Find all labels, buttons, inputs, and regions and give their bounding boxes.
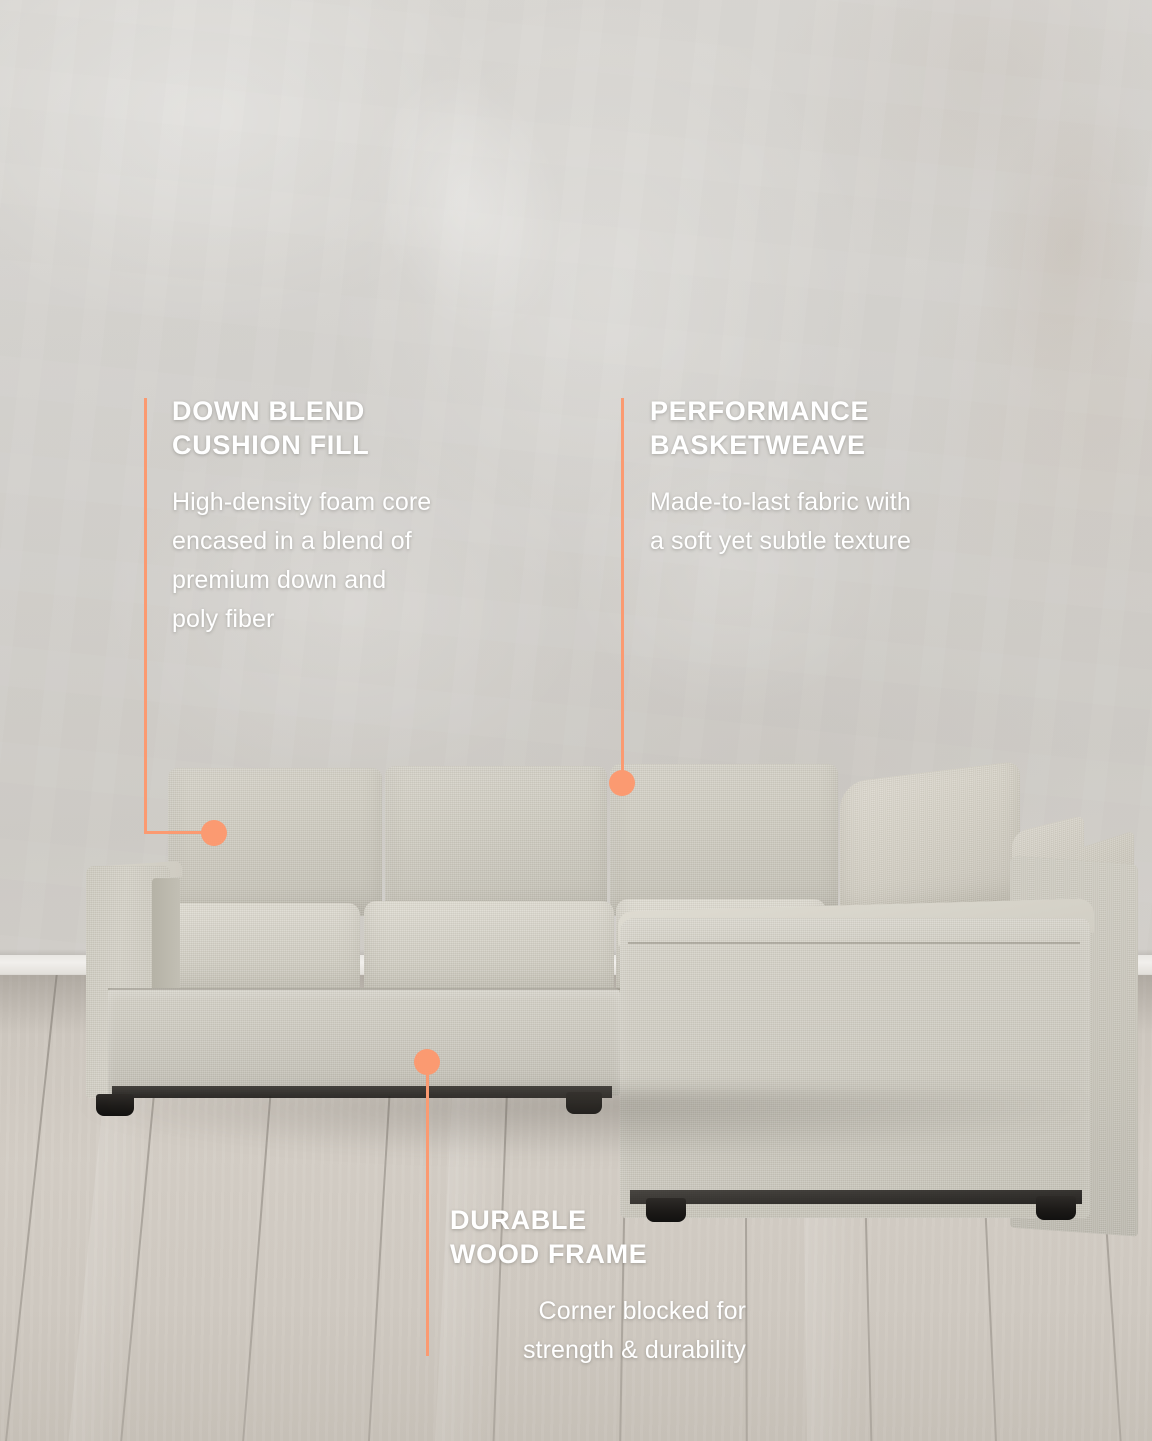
fabric-weave-texture (610, 764, 838, 916)
callout-1-anchor-dot (201, 820, 227, 846)
callout-2-anchor-dot (609, 770, 635, 796)
back-cushion-corner (840, 761, 1020, 923)
callout-2-leader-line-vertical (621, 398, 624, 783)
product-feature-graphic: DOWN BLEND CUSHION FILL High-density foa… (0, 0, 1152, 1441)
fabric-weave-texture (840, 761, 1020, 923)
fabric-weave-texture (108, 988, 620, 1096)
base-top-seam (108, 988, 620, 990)
callout-1-heading: DOWN BLEND CUSHION FILL (172, 394, 369, 462)
left-arm-inner-panel (152, 878, 180, 998)
seat-cushion-middle (364, 901, 614, 999)
callout-1-body: High-density foam core encased in a blen… (172, 483, 431, 639)
callout-2-heading: PERFORMANCE BASKETWEAVE (650, 394, 869, 462)
fabric-weave-texture (385, 766, 607, 916)
sofa-leg-corner-right (1036, 1196, 1076, 1220)
callout-3-heading: DURABLE WOOD FRAME (450, 1203, 647, 1271)
fabric-weave-texture (364, 901, 614, 999)
sofa-leg-corner-left (646, 1198, 686, 1222)
back-cushion-right (610, 764, 838, 916)
sofa-base-left (108, 988, 620, 1096)
callout-2-body: Made-to-last fabric with a soft yet subt… (650, 483, 911, 561)
corner-body-seam (628, 942, 1080, 944)
sofa-cast-shadow (70, 1090, 1100, 1160)
callout-3-body: Corner blocked for strength & durability (450, 1292, 746, 1370)
fabric-weave-texture (620, 918, 1090, 1218)
sofa-base-shadow-corner (630, 1190, 1082, 1204)
back-cushion-left (168, 768, 382, 916)
corner-chaise-body (620, 918, 1090, 1218)
fabric-weave-texture (168, 768, 382, 916)
callout-3-leader-line-vertical (426, 1072, 429, 1356)
callout-1-leader-line-vertical (144, 398, 147, 834)
back-cushion-middle (385, 766, 607, 916)
